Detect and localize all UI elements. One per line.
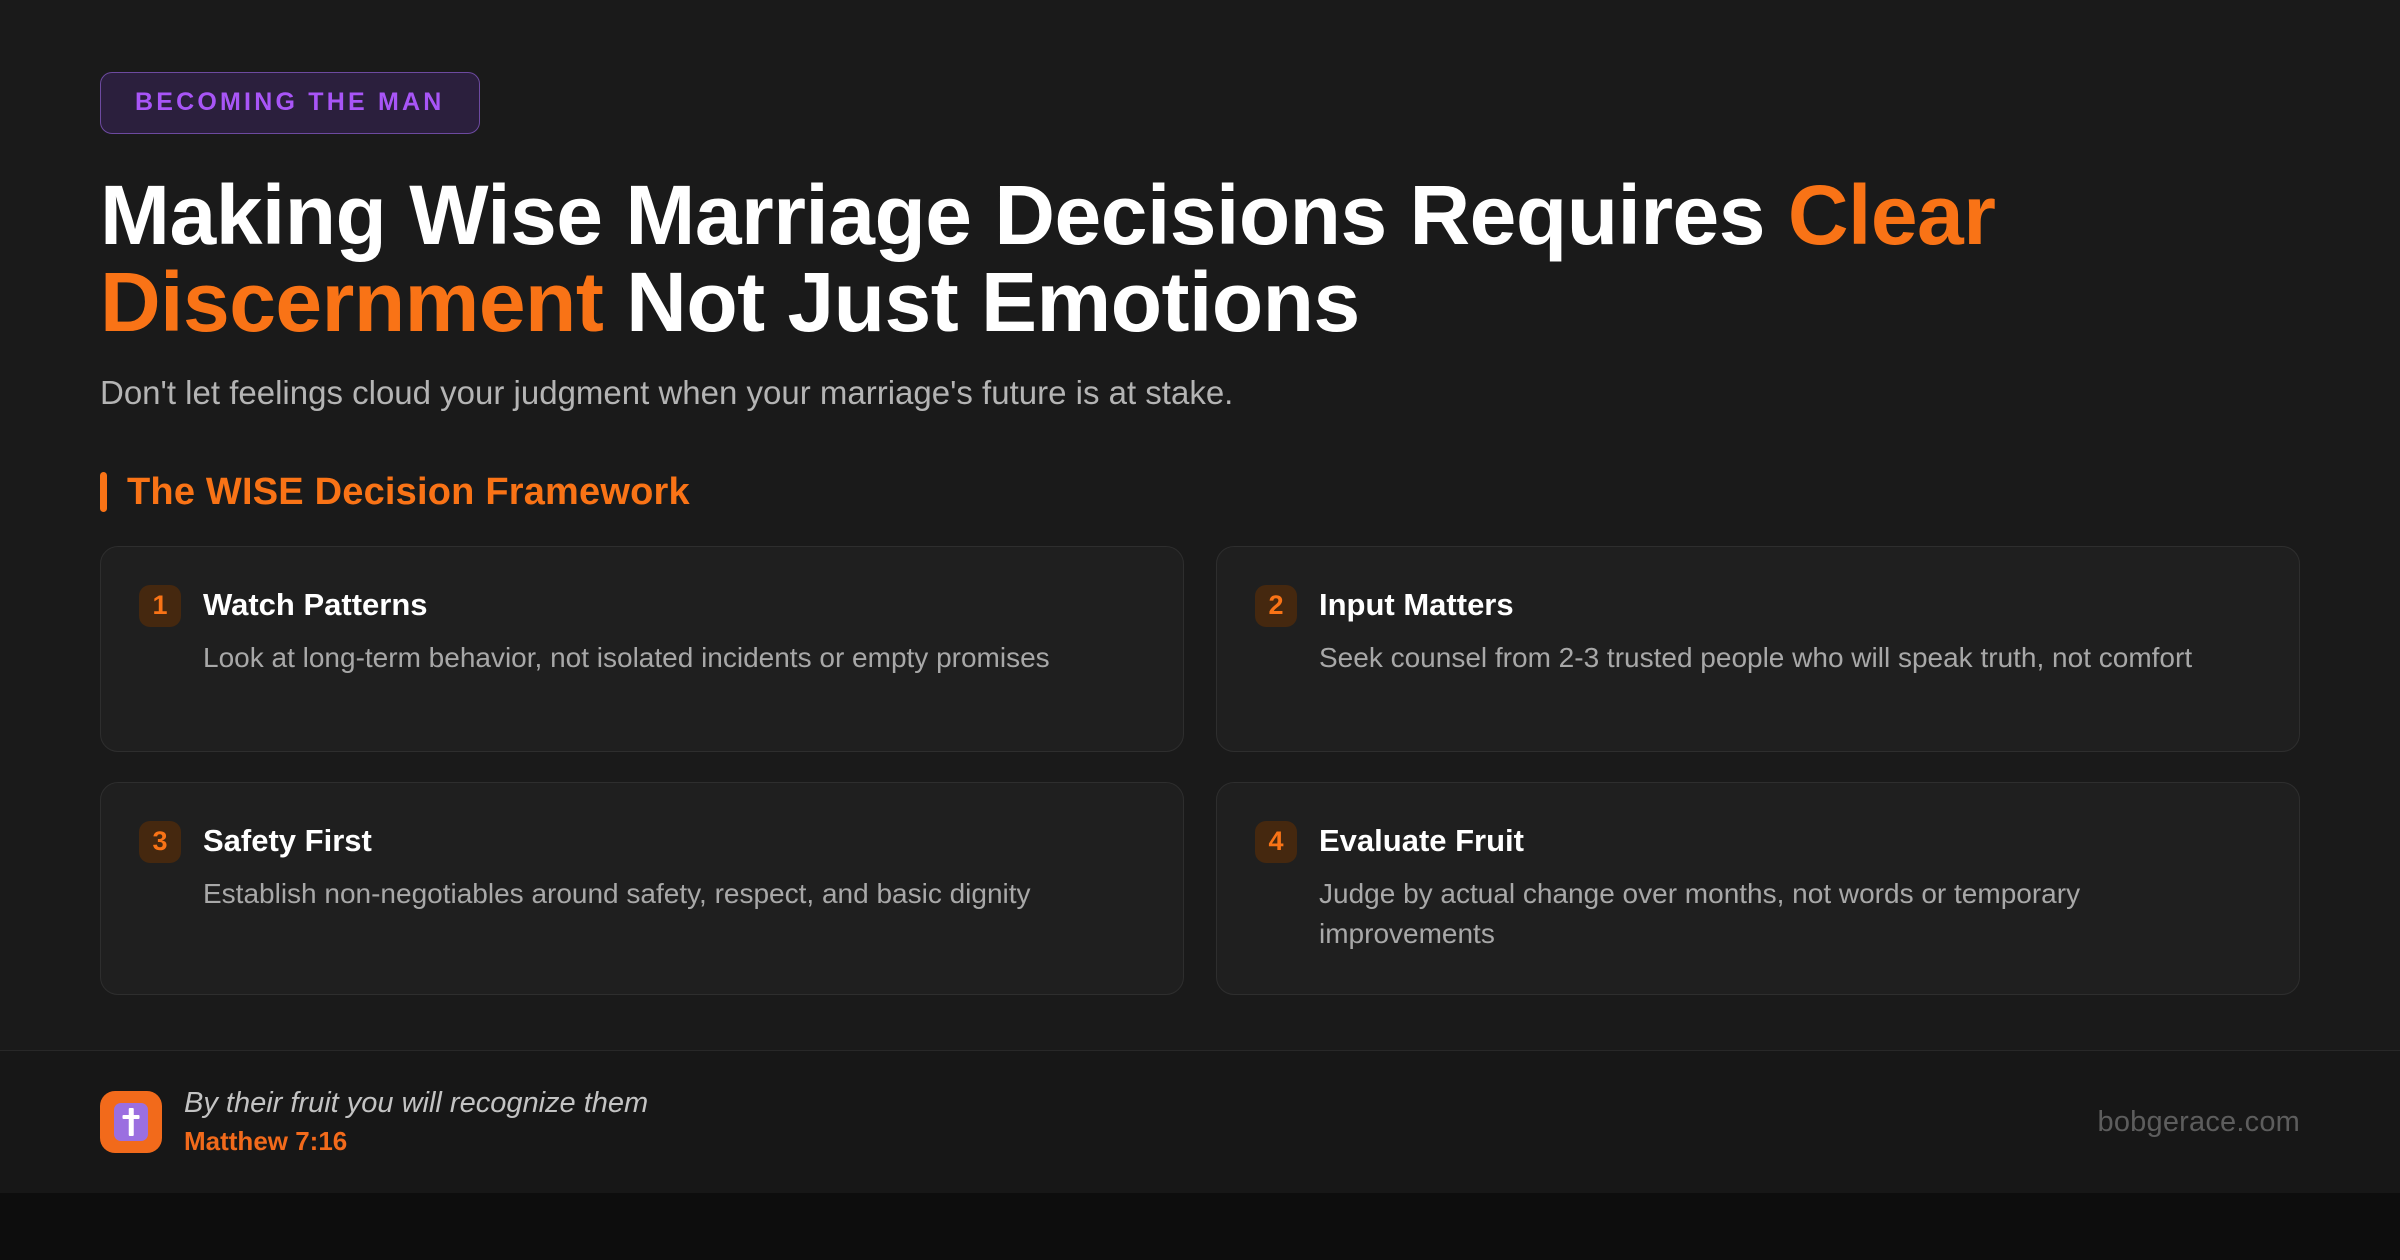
main-content: BECOMING THE MAN Making Wise Marriage De… [0, 0, 2400, 1050]
headline-part-2: Not Just Emotions [603, 255, 1359, 349]
card-description: Look at long-term behavior, not isolated… [203, 638, 1145, 678]
site-url: bobgerace.com [2098, 1106, 2301, 1139]
section-title: The WISE Decision Framework [127, 473, 690, 511]
card-title: Evaluate Fruit [1319, 823, 2261, 859]
card-title: Safety First [203, 823, 1145, 859]
page-subtitle: Don't let feelings cloud your judgment w… [100, 371, 2300, 416]
slide-root: BECOMING THE MAN Making Wise Marriage De… [0, 0, 2400, 1260]
framework-card: 3 Safety First Establish non-negotiables… [100, 782, 1184, 995]
card-header: 4 Evaluate Fruit Judge by actual change … [1255, 823, 2261, 954]
footer-bar: By their fruit you will recognize them M… [0, 1050, 2400, 1193]
verse-block: By their fruit you will recognize them M… [184, 1087, 648, 1156]
bottom-strip [0, 1193, 2400, 1260]
cross-icon-glyph [114, 1103, 148, 1141]
section-heading: The WISE Decision Framework [100, 472, 2300, 512]
card-body: Evaluate Fruit Judge by actual change ov… [1319, 823, 2261, 954]
accent-bar-icon [100, 472, 107, 512]
card-description: Judge by actual change over months, not … [1319, 874, 2261, 954]
framework-card: 1 Watch Patterns Look at long-term behav… [100, 546, 1184, 752]
headline-part-1: Making Wise Marriage Decisions Requires [100, 168, 1788, 262]
card-number-badge: 2 [1255, 585, 1297, 627]
card-number-badge: 1 [139, 585, 181, 627]
page-title: Making Wise Marriage Decisions Requires … [100, 172, 2210, 345]
card-header: 2 Input Matters Seek counsel from 2-3 tr… [1255, 587, 2261, 678]
card-body: Watch Patterns Look at long-term behavio… [203, 587, 1145, 678]
card-title: Watch Patterns [203, 587, 1145, 623]
card-number-badge: 4 [1255, 821, 1297, 863]
card-header: 1 Watch Patterns Look at long-term behav… [139, 587, 1145, 678]
card-number-badge: 3 [139, 821, 181, 863]
framework-card: 4 Evaluate Fruit Judge by actual change … [1216, 782, 2300, 995]
card-body: Safety First Establish non-negotiables a… [203, 823, 1145, 914]
footer-verse-group: By their fruit you will recognize them M… [100, 1087, 648, 1156]
framework-card-grid: 1 Watch Patterns Look at long-term behav… [100, 546, 2300, 995]
cross-icon [100, 1091, 162, 1153]
verse-reference: Matthew 7:16 [184, 1127, 648, 1157]
card-description: Establish non-negotiables around safety,… [203, 874, 1145, 914]
card-title: Input Matters [1319, 587, 2261, 623]
card-header: 3 Safety First Establish non-negotiables… [139, 823, 1145, 914]
eyebrow-badge: BECOMING THE MAN [100, 72, 480, 134]
card-body: Input Matters Seek counsel from 2-3 trus… [1319, 587, 2261, 678]
card-description: Seek counsel from 2-3 trusted people who… [1319, 638, 2261, 678]
verse-text: By their fruit you will recognize them [184, 1087, 648, 1120]
framework-card: 2 Input Matters Seek counsel from 2-3 tr… [1216, 546, 2300, 752]
